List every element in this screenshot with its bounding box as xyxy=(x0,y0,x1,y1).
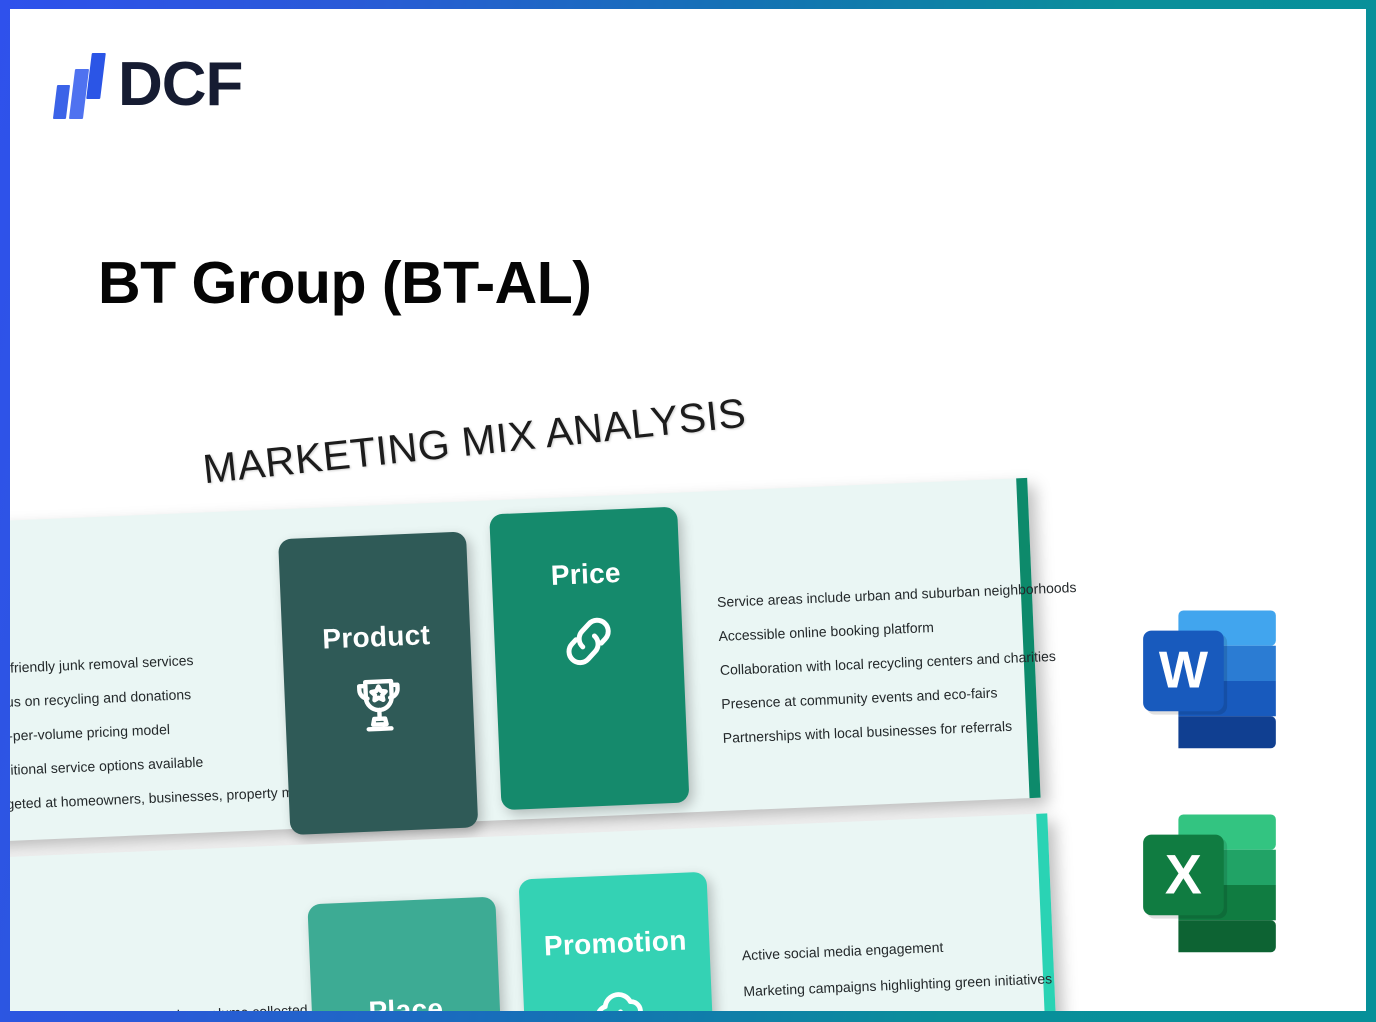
quadrant-tile-promotion[interactable]: Promotion xyxy=(519,872,719,1011)
quadrant-label-promotion: Promotion xyxy=(543,925,687,963)
list-item: Accessible online booking platform xyxy=(718,614,1078,643)
quadrant-tile-place[interactable]: Place xyxy=(307,897,507,1011)
promotion-bullet-list: Active social media engagement Marketing… xyxy=(742,935,1057,1011)
list-item: Marketing campaigns highlighting green i… xyxy=(743,971,1052,998)
page-title: BT Group (BT-AL) xyxy=(98,249,591,317)
quadrant-tile-product[interactable]: Product xyxy=(278,531,478,835)
excel-spreadsheet-icon[interactable]: X xyxy=(1128,801,1296,969)
marketing-mix-heading: MARKETING MIX ANALYSIS xyxy=(201,390,749,494)
trophy-icon xyxy=(347,670,412,735)
marketing-mix-top-panel: Eco-friendly junk removal services Focus… xyxy=(10,478,1041,843)
dcf-bars-logo-icon xyxy=(48,51,104,119)
quadrant-label-price: Price xyxy=(550,557,621,592)
quadrant-tile-price[interactable]: Price xyxy=(489,507,689,811)
list-item: Customer loyalty programs and incentives xyxy=(745,1007,1054,1011)
cloud-lightning-icon xyxy=(585,976,652,1011)
svg-text:X: X xyxy=(1165,843,1202,905)
quadrant-label-place: Place xyxy=(368,993,444,1011)
brand-name: DCF xyxy=(118,54,242,116)
marketing-mix-graphic: MARKETING MIX ANALYSIS Eco-friendly junk… xyxy=(10,403,1084,1011)
list-item: Active social media engagement xyxy=(742,935,1051,962)
page-gradient-frame: DCF BT Group (BT-AL) MARKETING MIX ANALY… xyxy=(0,0,1376,1022)
svg-text:W: W xyxy=(1159,642,1209,700)
list-item: Collaboration with local recycling cente… xyxy=(720,648,1080,677)
quadrant-label-product: Product xyxy=(322,619,431,655)
link-icon xyxy=(554,607,623,676)
marketing-mix-bottom-panel: Transparent pricing based on volume coll… xyxy=(10,813,1060,1011)
word-document-icon[interactable]: W xyxy=(1128,597,1296,765)
list-item: Presence at community events and eco-fai… xyxy=(721,682,1081,711)
price-bullet-list: Service areas include urban and suburban… xyxy=(717,580,1083,745)
page-canvas: DCF BT Group (BT-AL) MARKETING MIX ANALY… xyxy=(10,9,1366,1011)
list-item: Service areas include urban and suburban… xyxy=(717,580,1077,609)
brand-logo[interactable]: DCF xyxy=(48,51,242,119)
